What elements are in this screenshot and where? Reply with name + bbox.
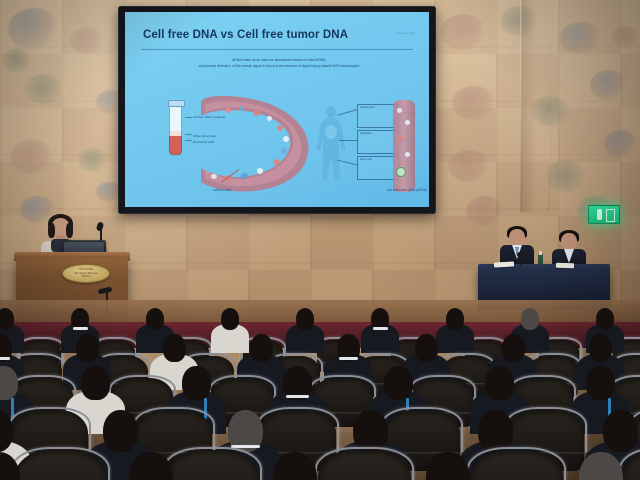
rbc (277, 125, 283, 131)
organ-box-3-caption: tumor cells (360, 158, 372, 161)
water-bottle-cap (539, 251, 542, 255)
projection-screen: Cell free DNA vs Cell free tumor DNA ins… (125, 12, 429, 207)
tube-cap (168, 100, 185, 107)
tube-body (169, 104, 182, 156)
slide-lead-line-1: ctDNA exists as an ultra low abundance f… (232, 58, 327, 62)
rbc (225, 108, 231, 113)
rbc (397, 136, 403, 141)
cfdna-particle (283, 136, 289, 142)
organ-box-2-caption: metastasis (360, 132, 371, 135)
audience-member-head (163, 334, 186, 362)
wbc (239, 106, 244, 111)
audience-member-head (502, 334, 525, 362)
slide-title-divider (141, 49, 413, 50)
audience-member-head (296, 308, 314, 330)
audience-member-head (221, 308, 239, 330)
plaque-line-3: TOKYO (81, 275, 90, 279)
label-cell-free-tumor-dna: cell free tumor DNA (ctDNA) (381, 188, 429, 193)
audience-member-head (0, 452, 20, 480)
audience-member-head (76, 334, 99, 362)
cfdna-particle (267, 116, 272, 121)
ctdna-particle (397, 108, 402, 113)
conference-hall-photo: Cell free DNA vs Cell free tumor DNA ins… (0, 0, 640, 480)
label-cell-free-dna: cell free DNA (199, 188, 245, 193)
audience-member (0, 452, 43, 480)
audience-member-collar (73, 327, 88, 330)
cfdna-particle (211, 174, 217, 179)
audience-member-head (384, 366, 412, 400)
audience-member-head (586, 366, 614, 400)
speaker-hair-right (66, 223, 73, 238)
audience-member-head (129, 452, 172, 480)
audience-member-head (603, 410, 638, 452)
tube-tick-plasma (185, 117, 192, 118)
audience-member-head (579, 452, 622, 480)
blood-vessel-illustration (195, 92, 325, 198)
exit-door-icon (606, 209, 615, 222)
exit-sign (588, 205, 620, 224)
audience-member-collar (339, 357, 358, 360)
audience-member-head (182, 366, 210, 400)
audience-area (0, 300, 640, 480)
audience-member-head (415, 334, 438, 362)
audience-member (403, 452, 493, 480)
audience-member-head (250, 334, 273, 362)
audience-member (106, 452, 196, 480)
podium-plaque-text: THE HOTEL Sky Marina Banquet TOKYO (63, 265, 109, 282)
slide-lead-line-2: and precise detection of this minute sig… (139, 64, 419, 70)
highlighted-ctdna (396, 167, 406, 177)
tube-tick-rbc (185, 140, 192, 141)
rbc (273, 159, 280, 165)
table-papers-2 (556, 263, 574, 269)
running-person-icon (597, 209, 602, 220)
audience-member-head (0, 366, 18, 400)
audience-member-head (273, 452, 316, 480)
projection-screen-frame: Cell free DNA vs Cell free tumor DNA ins… (118, 6, 436, 214)
audience-member-head (589, 334, 612, 362)
slide-title: Cell free DNA vs Cell free tumor DNA (143, 29, 348, 41)
audience-member-head (485, 366, 513, 400)
audience-member-collar (373, 327, 388, 330)
tube-tick-buffy (185, 134, 192, 135)
audience-member-head (446, 308, 464, 330)
slide-lead-text: ctDNA exists as an ultra low abundance f… (139, 58, 419, 70)
audience-member-head (81, 366, 109, 400)
table-papers-1 (494, 261, 514, 267)
audience-member-head (103, 410, 138, 452)
audience-member-head (521, 308, 539, 330)
speaker-hair-left (48, 223, 55, 238)
leader-line-2 (339, 140, 357, 141)
audience-member (286, 308, 324, 351)
vessel-shape (195, 92, 325, 198)
audience-member (556, 452, 640, 480)
slide-corner-logo: institution logo (395, 32, 415, 35)
audience-member-head (596, 308, 614, 330)
audience-member-collar (286, 395, 310, 398)
body-silhouette (313, 104, 349, 182)
ctdna-particle (405, 152, 410, 157)
audience-member-head (146, 308, 164, 330)
cfdna-particle (257, 168, 263, 174)
audience-member (250, 452, 340, 480)
blood-tube-illustration (169, 104, 182, 156)
wbc (281, 148, 287, 154)
audience-member-collar (0, 357, 10, 360)
vein-column (393, 100, 415, 192)
audience-member-head (426, 452, 469, 480)
podium-plaque: THE HOTEL Sky Marina Banquet TOKYO (62, 264, 110, 283)
ctdna-particle (405, 120, 410, 125)
organ-box-1-caption: primary tumor (360, 106, 375, 109)
wbc (241, 173, 248, 179)
rbc (253, 110, 260, 116)
human-body-figure (313, 104, 349, 182)
